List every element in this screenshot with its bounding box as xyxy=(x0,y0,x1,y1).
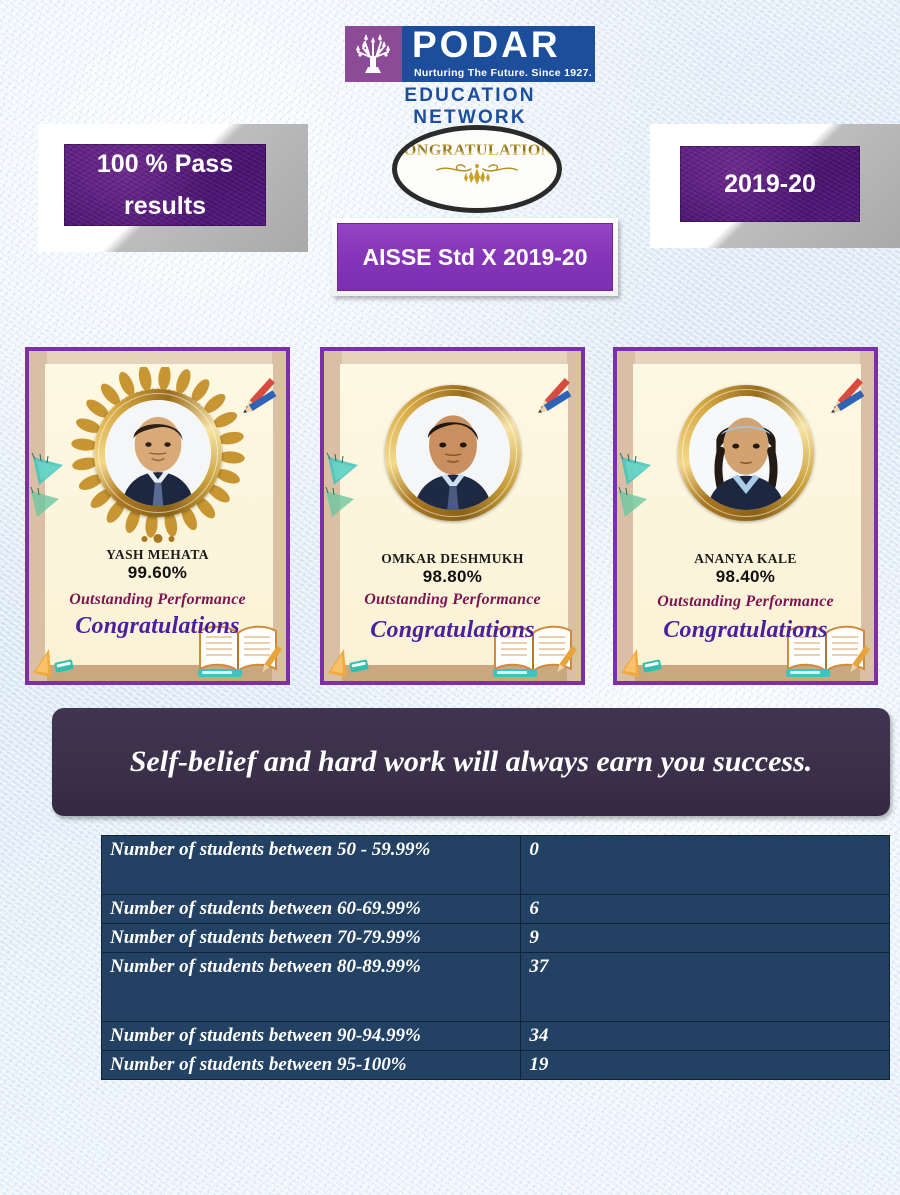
gold-ring xyxy=(385,385,521,521)
results-poster: PODAR Nurturing The Future. Since 1927. … xyxy=(0,0,900,1195)
student-name: OMKAR DESHMUKH xyxy=(324,551,581,567)
table-cell-value: 9 xyxy=(521,924,890,953)
table-cell-value: 6 xyxy=(521,895,890,924)
student-percent: 99.60% xyxy=(29,563,286,583)
logo-wordmark: PODAR Nurturing The Future. Since 1927. xyxy=(402,26,595,82)
table-cell-value: 37 xyxy=(521,953,890,1022)
student-name: YASH MEHATA xyxy=(29,547,286,563)
table-cell-value: 19 xyxy=(521,1051,890,1080)
student-photo xyxy=(105,400,211,506)
motivational-quote-banner: Self-belief and hard work will always ea… xyxy=(52,708,890,816)
table-body: Number of students between 50 - 59.99% 0… xyxy=(102,836,890,1080)
student-name: ANANYA KALE xyxy=(617,551,874,567)
portrait-frame xyxy=(365,367,541,539)
pass-rate-line2: results xyxy=(124,185,206,227)
table-row: Number of students between 70-79.99% 9 xyxy=(102,924,890,953)
pass-rate-line1: 100 % Pass xyxy=(97,143,233,185)
score-distribution-table: Number of students between 50 - 59.99% 0… xyxy=(101,835,890,1080)
academic-year-inner: 2019-20 xyxy=(680,146,860,222)
exam-title-box: AISSE Std X 2019-20 xyxy=(332,218,618,296)
student-photo xyxy=(689,396,803,510)
student-card: ANANYA KALE 98.40% Outstanding Performan… xyxy=(613,347,878,685)
portrait-frame xyxy=(658,367,834,539)
dot-ornament-icon xyxy=(141,534,174,543)
student-congrats: Congratulations xyxy=(617,617,874,644)
student-card: YASH MEHATA 99.60% Outstanding Performan… xyxy=(25,347,290,685)
student-percent: 98.80% xyxy=(324,567,581,587)
table-cell-label: Number of students between 70-79.99% xyxy=(102,924,521,953)
table-cell-label: Number of students between 50 - 59.99% xyxy=(102,836,521,895)
tree-icon xyxy=(345,26,402,82)
podar-logo: PODAR Nurturing The Future. Since 1927. … xyxy=(345,26,595,106)
card-inner: YASH MEHATA 99.60% Outstanding Performan… xyxy=(29,351,286,681)
student-congrats: Congratulations xyxy=(29,613,286,640)
ruler-pen-icon xyxy=(619,639,665,679)
student-remark: Outstanding Performance xyxy=(617,593,874,611)
table-cell-label: Number of students between 80-89.99% xyxy=(102,953,521,1022)
student-remark: Outstanding Performance xyxy=(324,591,581,609)
student-photo xyxy=(396,396,510,510)
pass-rate-inner: 100 % Pass results xyxy=(64,144,266,226)
ruler-pen-icon xyxy=(326,639,372,679)
table-cell-value: 0 xyxy=(521,836,890,895)
flourish-ornament-icon xyxy=(431,161,523,192)
table-row: Number of students between 80-89.99% 37 xyxy=(102,953,890,1022)
table-cell-label: Number of students between 90-94.99% xyxy=(102,1022,521,1051)
student-percent: 98.40% xyxy=(617,567,874,587)
quote-text: Self-belief and hard work will always ea… xyxy=(130,740,813,784)
pass-rate-plaque: 100 % Pass results xyxy=(38,124,308,252)
brand-name: PODAR xyxy=(412,25,561,65)
table-cell-label: Number of students between 95-100% xyxy=(102,1051,521,1080)
ruler-pen-icon xyxy=(31,639,77,679)
table-row: Number of students between 60-69.99% 6 xyxy=(102,895,890,924)
student-remark: Outstanding Performance xyxy=(29,591,286,609)
student-card: OMKAR DESHMUKH 98.80% Outstanding Perfor… xyxy=(320,347,585,685)
congratulations-badge-text: CONGRATULATIONS xyxy=(392,142,562,160)
table-row: Number of students between 95-100% 19 xyxy=(102,1051,890,1080)
brand-tagline: Nurturing The Future. Since 1927. xyxy=(414,67,592,79)
card-inner: OMKAR DESHMUKH 98.80% Outstanding Perfor… xyxy=(324,351,581,681)
academic-year-plaque: 2019-20 xyxy=(650,124,900,248)
portrait-frame xyxy=(70,367,246,539)
table-row: Number of students between 50 - 59.99% 0 xyxy=(102,836,890,895)
student-congrats: Congratulations xyxy=(324,617,581,644)
table-cell-label: Number of students between 60-69.99% xyxy=(102,895,521,924)
exam-title-text: AISSE Std X 2019-20 xyxy=(337,223,613,291)
brand-network: EDUCATION NETWORK xyxy=(345,85,595,129)
gold-ring xyxy=(94,389,222,517)
table-row: Number of students between 90-94.99% 34 xyxy=(102,1022,890,1051)
table-cell-value: 34 xyxy=(521,1022,890,1051)
congratulations-badge: CONGRATULATIONS xyxy=(392,125,562,213)
gold-ring xyxy=(678,385,814,521)
card-inner: ANANYA KALE 98.40% Outstanding Performan… xyxy=(617,351,874,681)
